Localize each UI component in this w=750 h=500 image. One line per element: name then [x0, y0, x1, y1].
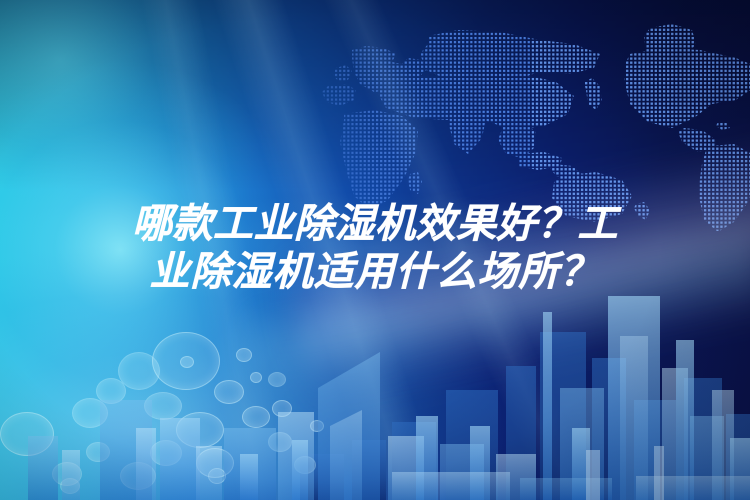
title-line-2: 业除湿机适用什么场所？: [0, 248, 750, 296]
page-title: 哪款工业除湿机效果好？工 业除湿机适用什么场所？: [0, 200, 750, 296]
title-line-1: 哪款工业除湿机效果好？工: [0, 200, 750, 248]
banner-image: 哪款工业除湿机效果好？工 业除湿机适用什么场所？: [0, 0, 750, 500]
